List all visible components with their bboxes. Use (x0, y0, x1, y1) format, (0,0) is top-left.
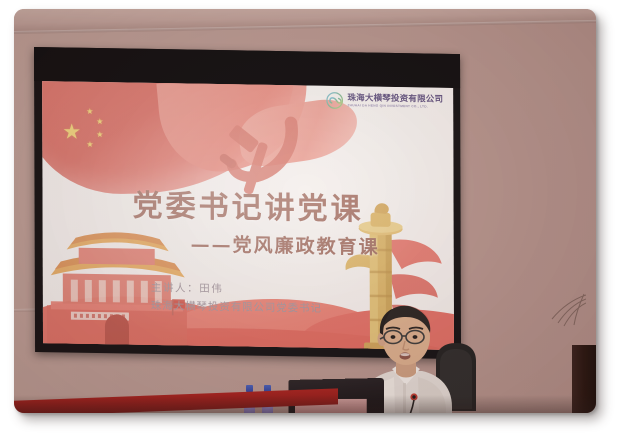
bottom-shade (14, 395, 596, 413)
logo-company-en: ZHUHAI DA HENG QIN INVESTMENT CO., LTD. (347, 104, 443, 109)
party-emblem-icon (214, 112, 310, 206)
flag-star-1: ★ (86, 108, 93, 116)
photo-frame: ★ ★ ★ ★ ★ (14, 9, 596, 413)
plant-icon (540, 293, 586, 327)
lecture-room-photo: ★ ★ ★ ★ ★ (14, 9, 596, 413)
interlocking-loops-icon (326, 92, 343, 109)
flag-star-large: ★ (62, 121, 81, 142)
tiananmen-gate-icon (45, 227, 195, 349)
company-logo: 珠海大横琴投资有限公司 ZHUHAI DA HENG QIN INVESTMEN… (326, 92, 443, 111)
flag-star-4: ★ (86, 141, 93, 149)
flag-star-3: ★ (96, 131, 103, 139)
flag-star-2: ★ (96, 118, 103, 126)
logo-text: 珠海大横琴投资有限公司 ZHUHAI DA HENG QIN INVESTMEN… (347, 94, 443, 109)
